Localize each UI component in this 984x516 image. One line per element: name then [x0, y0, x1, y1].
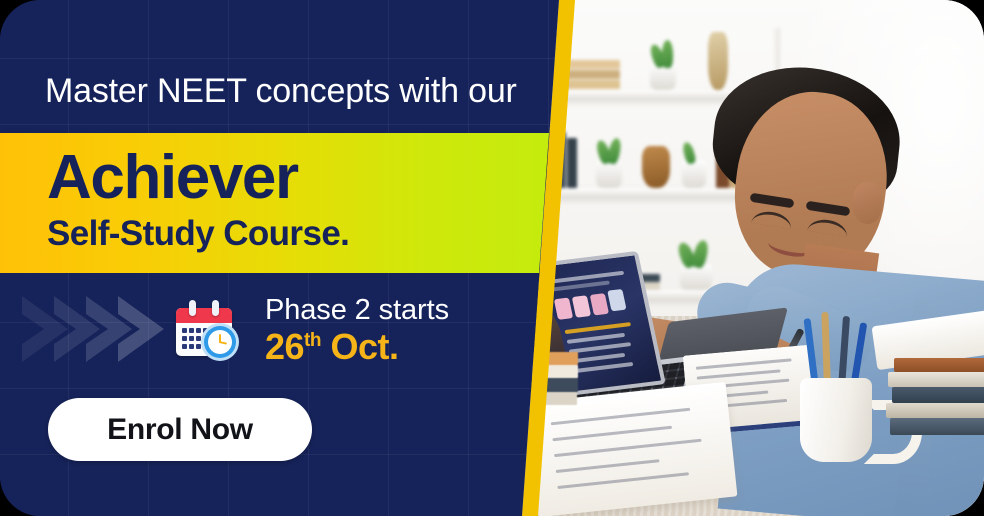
student-ear	[852, 182, 882, 224]
stacked-book	[892, 387, 984, 403]
stacked-book	[888, 372, 984, 387]
date-ordinal: th	[304, 330, 321, 351]
promo-banner: Master NEET concepts with our Achiever S…	[0, 0, 984, 516]
stacked-book	[894, 358, 984, 372]
stacked-book	[886, 403, 984, 418]
student-photo	[500, 0, 984, 516]
calendar-clock-icon	[176, 300, 236, 358]
enrol-now-button[interactable]: Enrol Now	[48, 398, 312, 461]
phase-label: Phase 2 starts	[265, 294, 449, 327]
course-subtitle: Self-Study Course.	[47, 216, 349, 251]
stacked-book	[890, 418, 984, 435]
headline-text: Master NEET concepts with our	[45, 72, 517, 111]
date-day: 26	[265, 326, 304, 367]
course-brand-title: Achiever	[47, 147, 298, 209]
date-month: Oct.	[331, 326, 399, 367]
start-date: 26th Oct.	[265, 326, 399, 368]
chevron-decoration	[22, 296, 172, 362]
pen-holder-mug	[800, 378, 872, 462]
